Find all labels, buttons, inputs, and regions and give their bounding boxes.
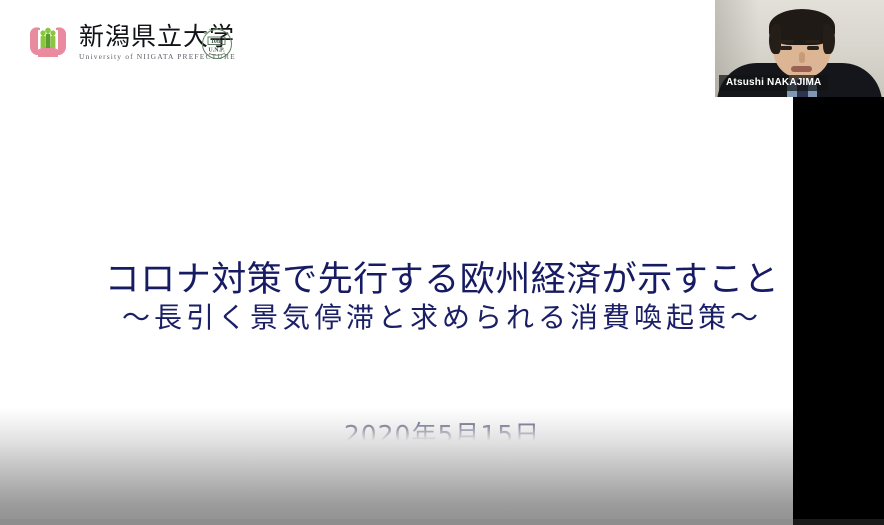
participant-hair-right [823, 24, 835, 54]
participant-eye-right [807, 46, 819, 50]
slide-date: 2020年5月15日 [0, 415, 884, 451]
svg-text:10th: 10th [211, 39, 223, 45]
university-logo-mark-icon [26, 20, 70, 64]
meeting-screen: 新潟県立大学 University of NIIGATA PREFECTURE … [0, 0, 884, 525]
participant-name-badge: Atsushi NAKAJIMA [719, 75, 828, 91]
anniversary-emblem-icon: 10th U.N.P. [196, 23, 236, 63]
participant-eye-left [780, 46, 792, 50]
svg-text:U.N.P.: U.N.P. [208, 48, 225, 54]
black-filler-foot [793, 519, 884, 525]
participant-hair-left [769, 24, 781, 54]
slide-title: コロナ対策で先行する欧州経済が示すこと [0, 262, 884, 300]
participant-eyebrow-right [805, 40, 820, 43]
participant-video-tile[interactable]: Atsushi NAKAJIMA [715, 0, 884, 97]
slide-subtitle: 〜長引く景気停滞と求められる消費喚起策〜 [0, 303, 884, 334]
slide-bottom-edge [0, 519, 884, 525]
participant-mouth [791, 66, 812, 72]
participant-eyebrow-left [779, 40, 794, 43]
slide-presenter: 新潟県立大学国際経済学部教授 中島厚志 [0, 456, 884, 492]
participant-nose [799, 52, 805, 63]
